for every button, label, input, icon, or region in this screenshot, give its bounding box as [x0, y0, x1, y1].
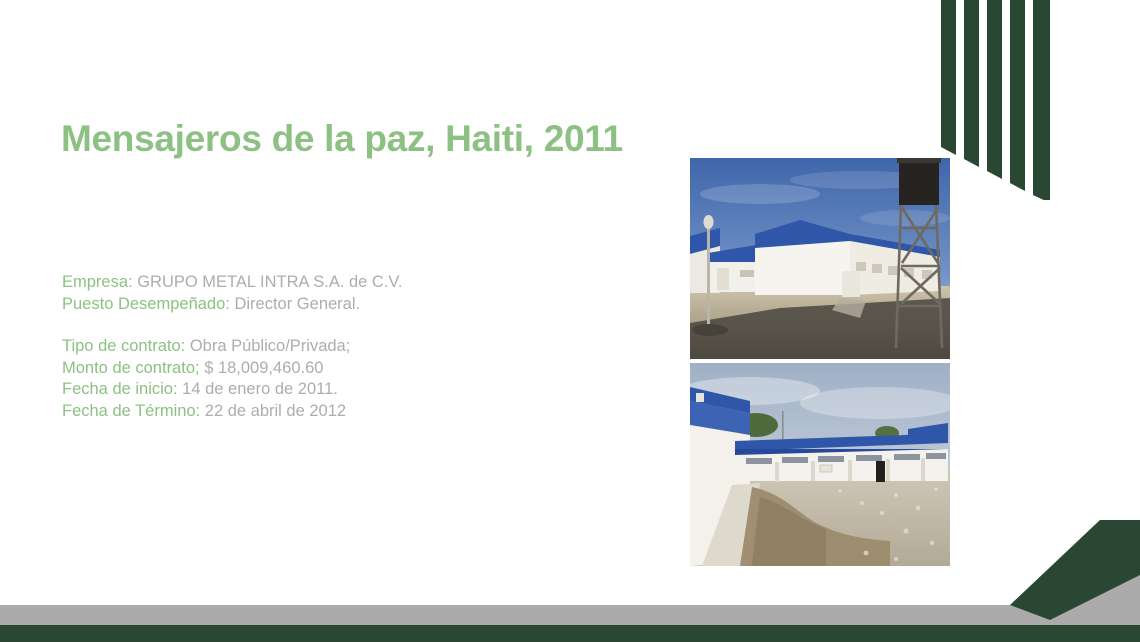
detail-line: Monto de contrato; $ 18,009,460.60: [62, 358, 662, 380]
detail-line: Tipo de contrato: Obra Público/Privada;: [62, 336, 662, 358]
detail-value: 22 de abril de 2012: [205, 402, 346, 420]
detail-value: Obra Público/Privada;: [190, 337, 351, 355]
bottom-gray-band: [0, 605, 1140, 625]
details-container: Empresa: GRUPO METAL INTRA S.A. de C.V. …: [62, 272, 662, 422]
photo-top: [690, 158, 950, 359]
detail-label: Tipo de contrato:: [62, 337, 185, 355]
detail-value: 14 de enero de 2011.: [182, 380, 338, 398]
detail-value: $ 18,009,460.60: [204, 359, 323, 377]
detail-label: Monto de contrato;: [62, 359, 200, 377]
detail-value: Director General.: [234, 295, 360, 313]
detail-line: Fecha de inicio: 14 de enero de 2011.: [62, 379, 662, 401]
detail-line: Empresa: GRUPO METAL INTRA S.A. de C.V.: [62, 272, 662, 294]
detail-label: Fecha de Término:: [62, 402, 200, 420]
detail-block-company: Empresa: GRUPO METAL INTRA S.A. de C.V. …: [62, 272, 662, 315]
page-title: Mensajeros de la paz, Haiti, 2011: [61, 118, 623, 160]
detail-label: Empresa:: [62, 273, 133, 291]
slide: Mensajeros de la paz, Haiti, 2011 Empres…: [0, 0, 1140, 642]
bottom-green-band: [0, 625, 1140, 642]
detail-line: Fecha de Término: 22 de abril de 2012: [62, 401, 662, 423]
detail-label: Fecha de inicio:: [62, 380, 178, 398]
detail-block-contract: Tipo de contrato: Obra Público/Privada; …: [62, 336, 662, 422]
detail-value: GRUPO METAL INTRA S.A. de C.V.: [137, 273, 402, 291]
photo-bottom: [690, 363, 950, 566]
detail-line: Puesto Desempeñado: Director General.: [62, 294, 662, 316]
detail-label: Puesto Desempeñado:: [62, 295, 230, 313]
